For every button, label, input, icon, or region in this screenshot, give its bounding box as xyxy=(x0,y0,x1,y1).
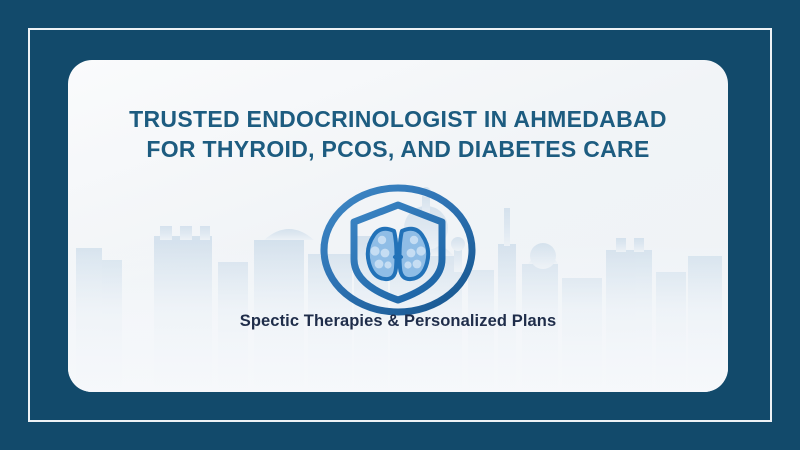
headline-line-1: Trusted Endocrinologist in Ahmedabad xyxy=(129,104,667,134)
content-card: Trusted Endocrinologist in Ahmedabad for… xyxy=(68,60,728,392)
thyroid-shield-emblem xyxy=(316,181,480,319)
page-title: Trusted Endocrinologist in Ahmedabad for… xyxy=(129,104,667,165)
tagline: Spectic Therapies & Personalized Plans xyxy=(68,312,728,331)
headline-line-2: for Thyroid, PCOS, and Diabetes Care xyxy=(129,134,667,164)
promo-banner: Trusted Endocrinologist in Ahmedabad for… xyxy=(0,0,800,450)
